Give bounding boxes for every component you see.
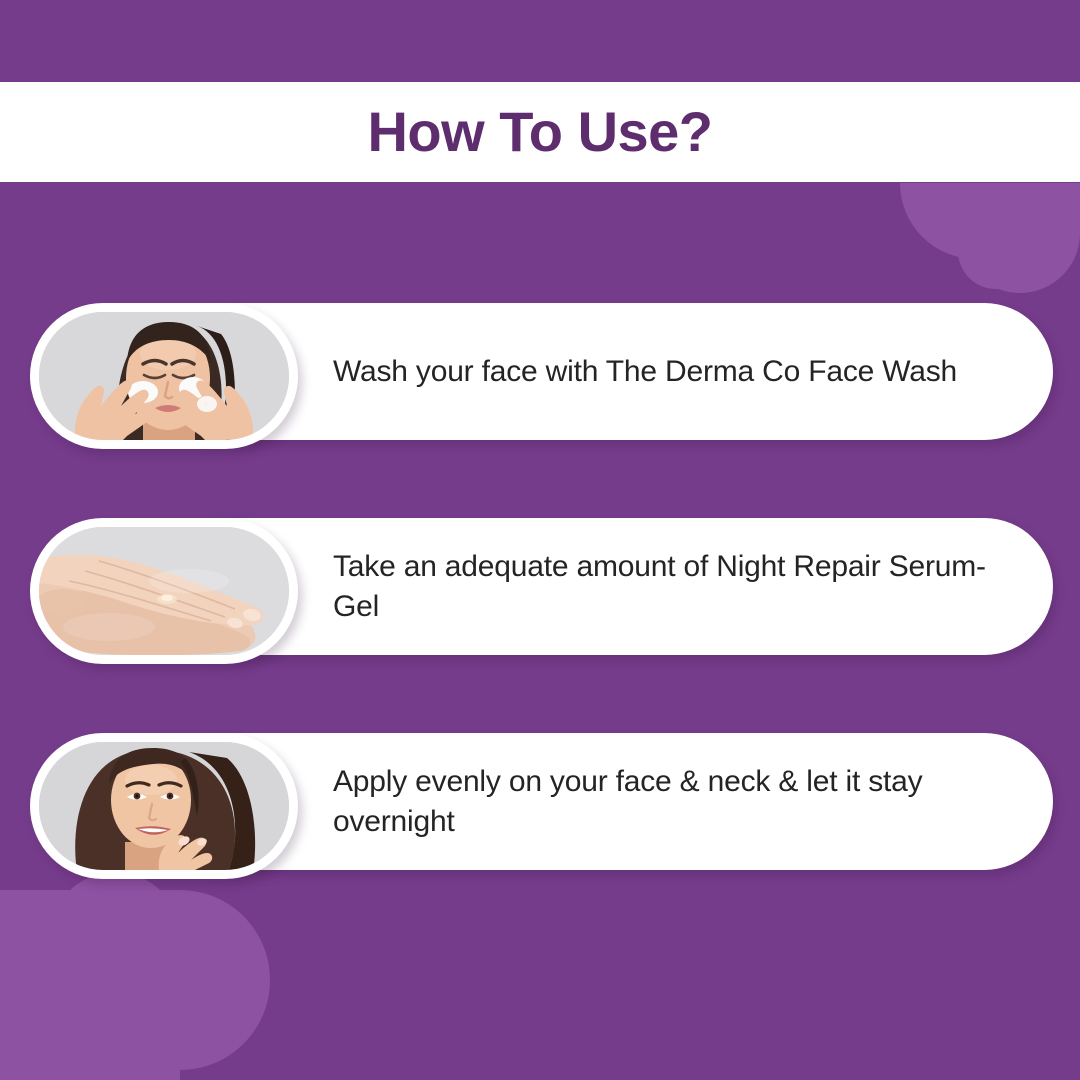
list-item: Wash your face with The Derma Co Face Wa…: [30, 303, 1053, 440]
steps-list: Wash your face with The Derma Co Face Wa…: [0, 0, 1080, 1080]
how-to-use-infographic: How To Use? Wash your face with The Derm…: [0, 0, 1080, 1080]
step-text: Wash your face with The Derma Co Face Wa…: [333, 352, 957, 392]
step-thumbnail-frame: [30, 733, 298, 879]
hands-with-serum-thumbnail: [39, 527, 289, 655]
step-text: Take an adequate amount of Night Repair …: [333, 547, 1013, 626]
step-thumbnail-frame: [30, 303, 298, 449]
list-item: Apply evenly on your face & neck & let i…: [30, 733, 1053, 870]
smiling-woman-touching-face-thumbnail: [39, 742, 289, 870]
step-text: Apply evenly on your face & neck & let i…: [333, 762, 1013, 841]
woman-applying-face-wash-thumbnail: [39, 312, 289, 440]
list-item: Take an adequate amount of Night Repair …: [30, 518, 1053, 655]
step-thumbnail-frame: [30, 518, 298, 664]
